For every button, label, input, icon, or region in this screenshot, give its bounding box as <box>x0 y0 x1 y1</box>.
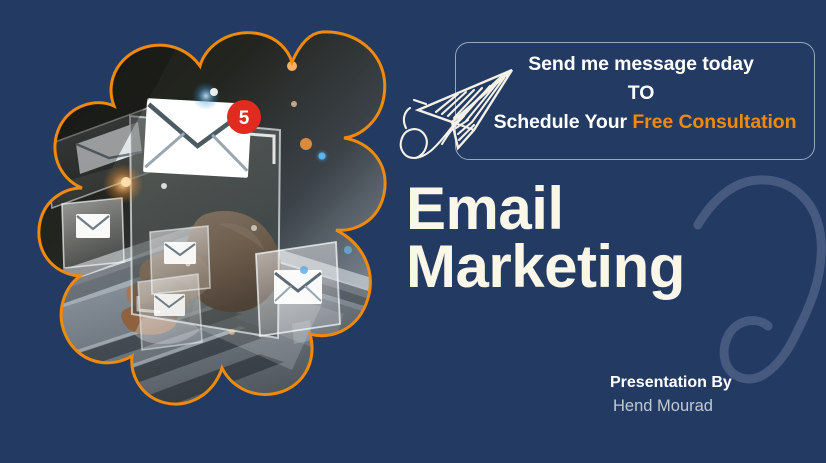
hero-image-blob: 5 <box>0 18 404 450</box>
hero-image-svg: 5 <box>0 18 404 450</box>
notification-badge: 5 <box>227 100 261 134</box>
envelope-icon <box>154 294 185 316</box>
presenter-block: Presentation By Hend Mourad <box>610 372 732 418</box>
callout-line-1: Send me message today <box>455 50 826 79</box>
page-title-line-1: Email <box>406 180 826 238</box>
envelope-card-small-lower <box>138 274 202 350</box>
envelope-icon <box>76 214 110 238</box>
envelope-card-small-left <box>62 198 124 268</box>
callout-line-3: Schedule Your Free Consultation <box>455 108 826 137</box>
callout-line-2: TO <box>455 79 826 108</box>
page-title: Email Marketing <box>406 180 826 296</box>
callout-text-group: Send me message today TO Schedule Your F… <box>455 50 826 137</box>
presenter-name: Hend Mourad <box>610 394 732 418</box>
presenter-label: Presentation By <box>610 372 732 394</box>
callout-line-3-prefix: Schedule Your <box>494 111 633 133</box>
envelope-icon <box>164 242 196 264</box>
callout-line-3-highlight: Free Consultation <box>632 111 796 133</box>
page-title-line-2: Marketing <box>406 238 826 296</box>
notification-badge-count: 5 <box>239 108 250 129</box>
slide-canvas: 5 <box>0 0 826 463</box>
envelope-icon <box>274 270 322 304</box>
